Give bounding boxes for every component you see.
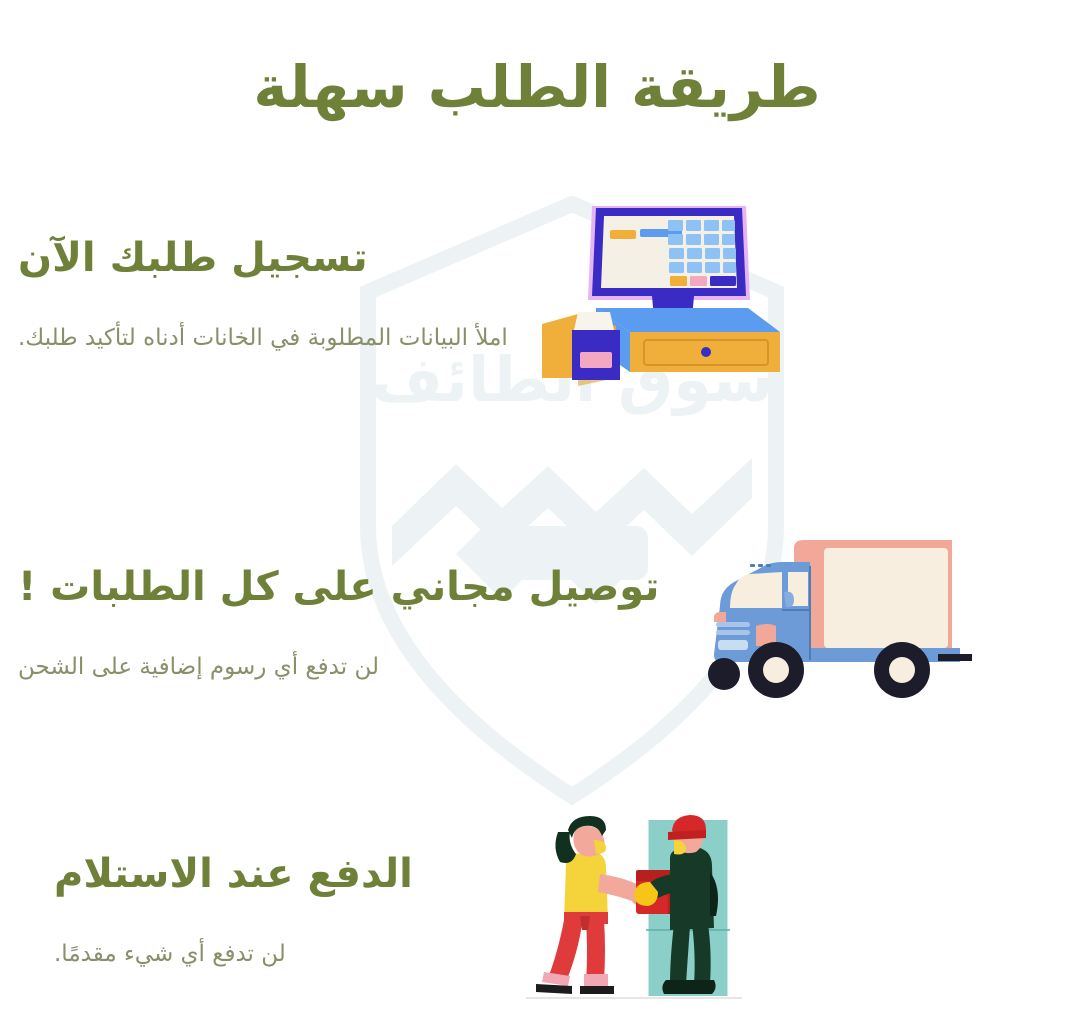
step-order-subtitle: املأ البيانات المطلوبة في الخانات أدناه … [18, 321, 534, 356]
step-shipping: توصيل مجاني على كل الطلبات ! لن تدفع أي … [0, 530, 974, 715]
step-shipping-heading: توصيل مجاني على كل الطلبات ! [18, 560, 706, 614]
step-order: تسجيل طلبك الآن املأ البيانات المطلوبة ف… [0, 196, 784, 391]
step-order-heading: تسجيل طلبك الآن [18, 231, 534, 285]
step-shipping-text: توصيل مجاني على كل الطلبات ! لن تدفع أي … [0, 560, 706, 685]
step-payment-subtitle: لن تدفع أي شيء مقدمًا. [54, 937, 524, 972]
page-title: طريقة الطلب سهلة [0, 51, 1074, 124]
step-payment: الدفع عند الاستلام لن تدفع أي شيء مقدمًا… [0, 812, 744, 1007]
order-steps-page: سوق الطائف طريقة الطلب سهلة [0, 0, 1074, 1027]
pos-computer-terminal-illustration [534, 196, 784, 391]
delivery-truck-illustration [706, 530, 974, 715]
step-order-text: تسجيل طلبك الآن املأ البيانات المطلوبة ف… [0, 231, 534, 356]
step-payment-heading: الدفع عند الاستلام [54, 847, 524, 901]
cash-on-delivery-handoff-illustration [524, 812, 744, 1007]
step-payment-text: الدفع عند الاستلام لن تدفع أي شيء مقدمًا… [36, 847, 524, 972]
step-shipping-subtitle: لن تدفع أي رسوم إضافية على الشحن [18, 650, 706, 685]
